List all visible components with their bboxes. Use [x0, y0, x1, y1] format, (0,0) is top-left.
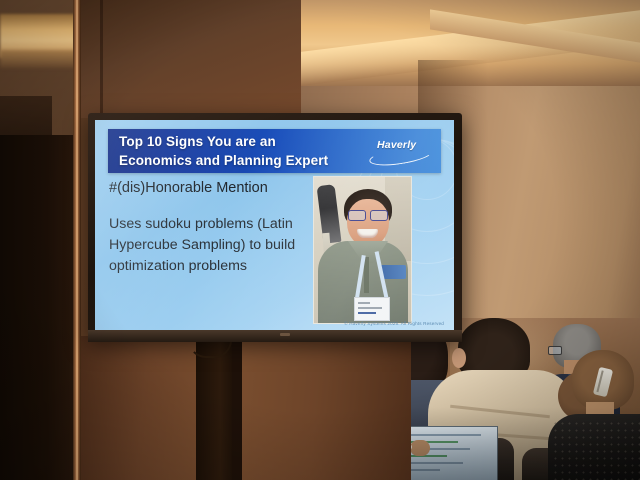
- tv-screen[interactable]: Top 10 Signs You are an Economics and Pl…: [95, 120, 454, 332]
- presentation-slide[interactable]: Top 10 Signs You are an Economics and Pl…: [95, 120, 454, 332]
- tv-bottom-bezel: [88, 330, 462, 342]
- conference-room-scene: Top 10 Signs You are an Economics and Pl…: [0, 0, 640, 480]
- tv-power-led: [280, 333, 290, 336]
- left-shadow-panel: [0, 135, 78, 480]
- wood-column-seam: [100, 0, 103, 118]
- column-dark-gap-edge: [232, 338, 242, 480]
- pole-highlight: [76, 0, 78, 480]
- wall-mounted-tv[interactable]: Top 10 Signs You are an Economics and Pl…: [88, 113, 462, 340]
- wood-column-top: [81, 0, 301, 118]
- screen-glare: [95, 120, 454, 332]
- wood-column-base: [81, 336, 411, 480]
